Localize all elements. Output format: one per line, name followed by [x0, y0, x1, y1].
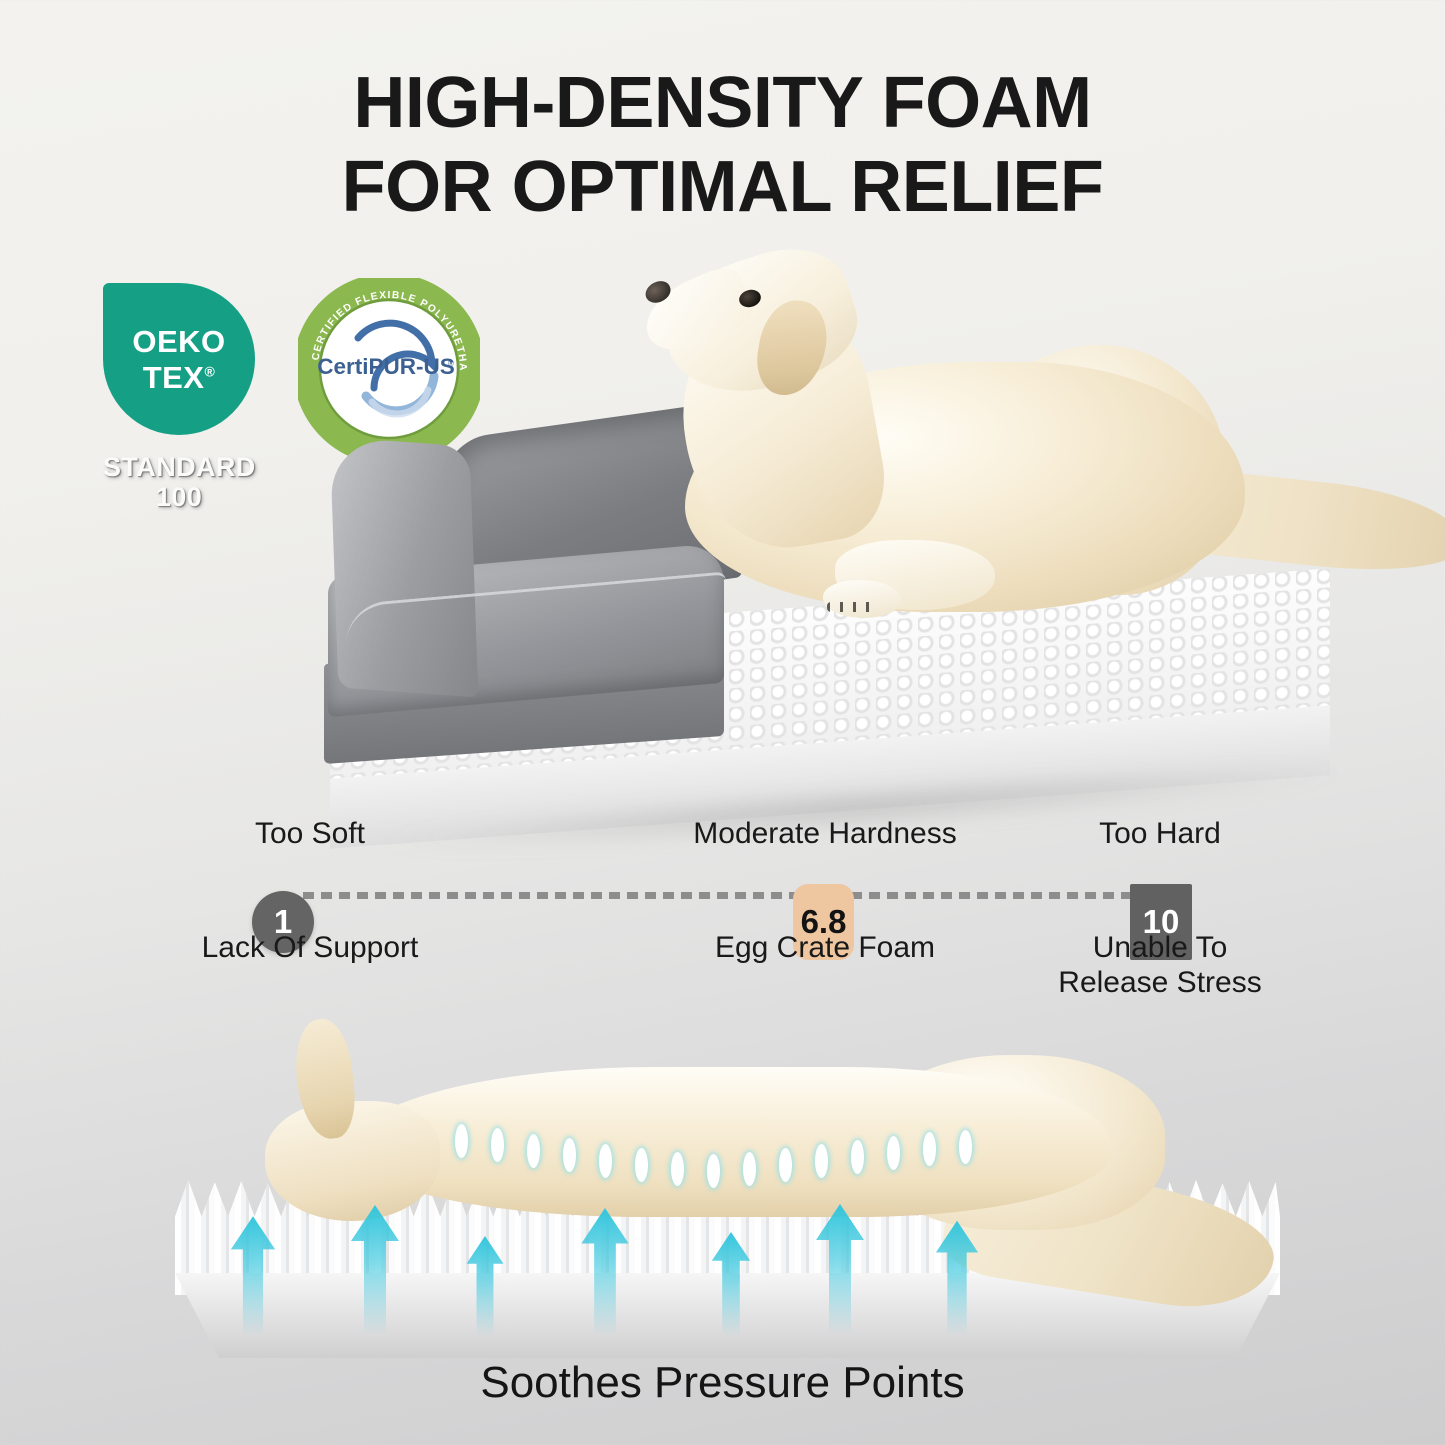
spine-vertebra — [455, 1124, 468, 1158]
standard-number: 100 — [103, 482, 255, 512]
unable-line-2: Release Stress — [1058, 966, 1261, 999]
dog-bed-product-photo — [300, 250, 1340, 810]
title-line-2: FOR OPTIMAL RELIEF — [0, 146, 1445, 230]
spine-vertebra — [851, 1140, 864, 1174]
dog-sitting-on-bed — [535, 250, 1275, 670]
label-moderate-hardness: Moderate Hardness — [640, 816, 1010, 851]
pressure-arrow-icon — [815, 1202, 865, 1336]
unable-line-1: Unable To — [1093, 931, 1228, 964]
spine-vertebra — [743, 1152, 756, 1186]
spine-vertebra — [563, 1138, 576, 1172]
pressure-arrows — [210, 1196, 1240, 1336]
label-egg-crate-foam: Egg Crate Foam — [640, 930, 1010, 965]
oeko-tex-drop-icon: OEKO TEX® — [103, 283, 255, 435]
oeko-standard-label: STANDARD 100 — [103, 452, 255, 512]
dog-paw — [823, 580, 901, 618]
label-unable-release-stress: Unable To Release Stress — [1010, 930, 1310, 1001]
hardness-scale: Too Soft Moderate Hardness Too Hard 1 6.… — [0, 805, 1445, 995]
label-too-soft: Too Soft — [160, 816, 460, 851]
pressure-arrow-icon — [230, 1216, 276, 1336]
spine-vertebra — [599, 1144, 612, 1178]
dog-toes — [827, 602, 875, 612]
spine-vertebra-markers — [455, 1118, 975, 1188]
spine-vertebra — [923, 1132, 936, 1166]
spine-vertebra — [671, 1152, 684, 1186]
spine-vertebra — [707, 1154, 720, 1188]
oeko-tex-badge: OEKO TEX® STANDARD 100 — [103, 283, 255, 512]
infographic-canvas: HIGH-DENSITY FOAM FOR OPTIMAL RELIEF OEK… — [0, 0, 1445, 1445]
label-lack-of-support: Lack Of Support — [140, 930, 480, 965]
tex-word: TEX® — [143, 362, 216, 393]
label-too-hard: Too Hard — [1020, 816, 1300, 851]
scale-track: 1 6.8 10 — [0, 865, 1445, 925]
spine-vertebra — [959, 1130, 972, 1164]
standard-word: STANDARD — [103, 452, 256, 482]
oeko-word: OEKO — [132, 326, 225, 357]
scale-dash-segment-left — [303, 892, 803, 899]
title-line-1: HIGH-DENSITY FOAM — [353, 63, 1091, 143]
pressure-arrow-icon — [935, 1220, 979, 1336]
page-title: HIGH-DENSITY FOAM FOR OPTIMAL RELIEF — [0, 62, 1445, 229]
spine-vertebra — [815, 1144, 828, 1178]
spine-vertebra — [527, 1134, 540, 1168]
bottom-caption: Soothes Pressure Points — [0, 1358, 1445, 1408]
scale-dash-segment-right — [851, 892, 1133, 899]
pressure-arrow-icon — [465, 1236, 505, 1336]
spine-vertebra — [491, 1128, 504, 1162]
spine-vertebra — [779, 1148, 792, 1182]
spine-vertebra — [887, 1136, 900, 1170]
pressure-arrow-icon — [350, 1204, 400, 1336]
pressure-arrow-icon — [580, 1208, 630, 1336]
pressure-arrow-icon — [710, 1232, 752, 1336]
spine-vertebra — [635, 1148, 648, 1182]
